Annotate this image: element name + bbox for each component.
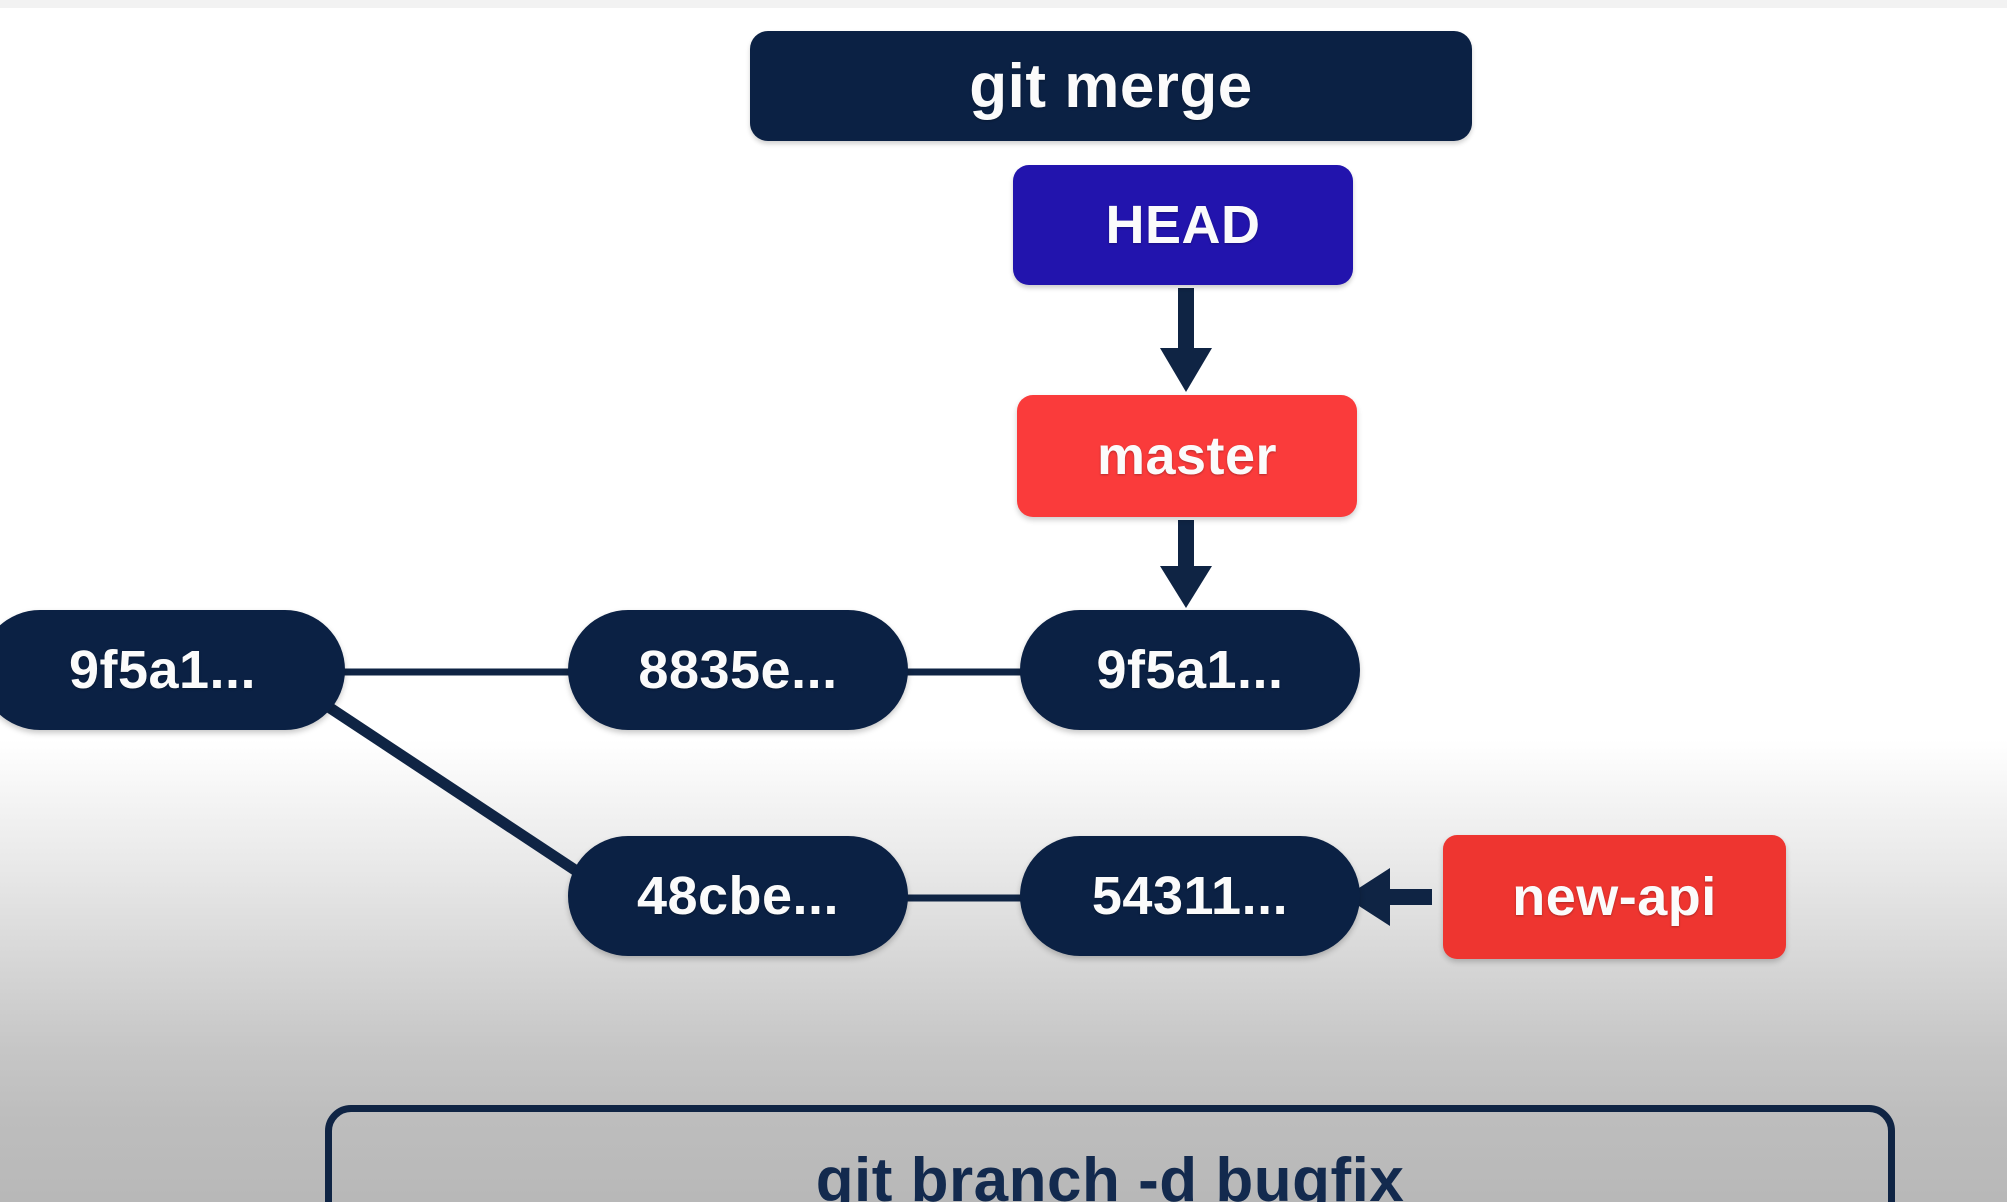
edge-c1-b1 [318,700,578,872]
command-box-git-branch-delete[interactable]: git branch -d bugfix [325,1105,1895,1202]
commit-label: 8835e... [638,639,837,701]
edge-head-to-master [1160,288,1212,392]
command-bar-git-merge[interactable]: git merge [750,31,1472,141]
commit-label: 9f5a1... [69,639,256,701]
ref-master[interactable]: master [1017,395,1357,517]
ref-new-api-label: new-api [1512,866,1717,928]
top-edge-strip [0,0,2007,8]
commit-node-54311[interactable]: 54311... [1020,836,1360,956]
commit-label: 54311... [1092,865,1288,927]
commit-node-9f5a1-tip[interactable]: 9f5a1... [1020,610,1360,730]
edge-master-to-commit3 [1160,520,1212,608]
commit-node-9f5a1-root[interactable]: 9f5a1... [0,610,345,730]
ref-new-api[interactable]: new-api [1443,835,1786,959]
commit-label: 9f5a1... [1096,639,1283,701]
ref-head[interactable]: HEAD [1013,165,1353,285]
ref-master-label: master [1097,425,1277,487]
git-merge-diagram: git merge HEAD master 9f5a1... 8835e... … [0,0,2007,1202]
commit-node-8835e[interactable]: 8835e... [568,610,908,730]
ref-head-label: HEAD [1105,194,1260,256]
command-box-label: git branch -d bugfix [816,1145,1405,1202]
commit-node-48cbe[interactable]: 48cbe... [568,836,908,956]
connector-layer [0,0,2007,1202]
commit-label: 48cbe... [637,865,839,927]
command-bar-label: git merge [969,51,1253,122]
